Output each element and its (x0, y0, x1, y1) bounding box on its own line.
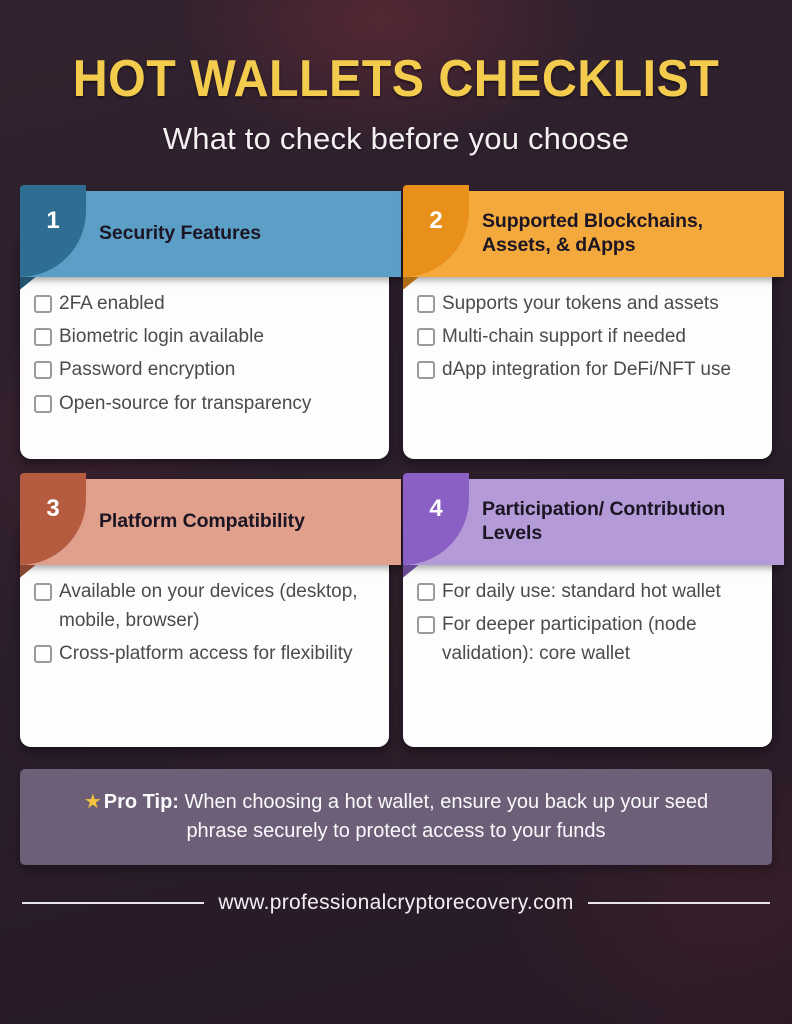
card-number-badge: 2 (403, 185, 469, 277)
star-icon: ★ (84, 791, 102, 813)
footer: www.professionalcryptorecovery.com (0, 891, 792, 915)
checklist-item-label: Cross-platform access for flexibility (59, 639, 353, 668)
card-number: 3 (46, 497, 59, 565)
checklist-item[interactable]: Cross-platform access for flexibility (34, 639, 375, 668)
checklist-item[interactable]: For deeper participation (node validatio… (417, 610, 758, 669)
checklist-item[interactable]: dApp integration for DeFi/NFT use (417, 355, 758, 384)
checkbox-icon[interactable] (417, 616, 435, 634)
checklist-card: 2Supported Blockchains, Assets, & dAppsS… (403, 191, 772, 459)
checkbox-icon[interactable] (417, 295, 435, 313)
page-title: HOT WALLETS CHECKLIST (28, 52, 765, 107)
checkbox-icon[interactable] (417, 328, 435, 346)
card-title: Participation/ Contribution Levels (482, 498, 768, 545)
checklist-item[interactable]: Supports your tokens and assets (417, 289, 758, 318)
checkbox-icon[interactable] (34, 645, 52, 663)
checklist-item[interactable]: Password encryption (34, 355, 375, 384)
checklist-item[interactable]: Open-source for transparency (34, 389, 375, 418)
checkbox-icon[interactable] (34, 295, 52, 313)
checkbox-icon[interactable] (34, 583, 52, 601)
card-number-badge: 3 (20, 473, 86, 565)
footer-rule-left (22, 902, 204, 904)
pro-tip-label: Pro Tip: (104, 791, 179, 813)
pro-tip-text: ★Pro Tip: When choosing a hot wallet, en… (54, 788, 738, 846)
checklist-item[interactable]: Biometric login available (34, 322, 375, 351)
checklist-item[interactable]: For daily use: standard hot wallet (417, 577, 758, 606)
checklist-item[interactable]: Multi-chain support if needed (417, 322, 758, 351)
pro-tip-body: When choosing a hot wallet, ensure you b… (179, 791, 708, 842)
footer-url: www.professionalcryptorecovery.com (218, 891, 573, 915)
checklist-item-label: Open-source for transparency (59, 389, 311, 418)
card-header: 3Platform Compatibility (25, 479, 401, 565)
checklist-item-label: Available on your devices (desktop, mobi… (59, 577, 375, 636)
checkbox-icon[interactable] (34, 328, 52, 346)
checkbox-icon[interactable] (417, 361, 435, 379)
checklist-item[interactable]: Available on your devices (desktop, mobi… (34, 577, 375, 636)
checkbox-icon[interactable] (34, 395, 52, 413)
checkbox-icon[interactable] (34, 361, 52, 379)
checklist-card: 4Participation/ Contribution LevelsFor d… (403, 479, 772, 747)
checklist-card-grid: 1Security Features2FA enabledBiometric l… (20, 191, 772, 747)
pro-tip-banner: ★Pro Tip: When choosing a hot wallet, en… (20, 769, 772, 865)
card-header: 2Supported Blockchains, Assets, & dApps (408, 191, 784, 277)
page-header: HOT WALLETS CHECKLIST What to check befo… (0, 0, 792, 157)
infographic-page: HOT WALLETS CHECKLIST What to check befo… (0, 0, 792, 1024)
checklist-item-label: For deeper participation (node validatio… (442, 610, 758, 669)
checklist-item-label: Password encryption (59, 355, 235, 384)
card-header: 1Security Features (25, 191, 401, 277)
card-title: Platform Compatibility (99, 510, 305, 533)
page-subtitle: What to check before you choose (0, 121, 792, 157)
card-number: 2 (429, 209, 442, 277)
card-number-badge: 4 (403, 473, 469, 565)
card-title: Security Features (99, 222, 261, 245)
footer-rule-right (588, 902, 770, 904)
card-number: 1 (46, 209, 59, 277)
checklist-card: 1Security Features2FA enabledBiometric l… (20, 191, 389, 459)
card-header: 4Participation/ Contribution Levels (408, 479, 784, 565)
card-title: Supported Blockchains, Assets, & dApps (482, 210, 768, 257)
checklist-item-label: Multi-chain support if needed (442, 322, 686, 351)
checklist-item[interactable]: 2FA enabled (34, 289, 375, 318)
checklist-card: 3Platform CompatibilityAvailable on your… (20, 479, 389, 747)
card-number-badge: 1 (20, 185, 86, 277)
checklist-item-label: Supports your tokens and assets (442, 289, 719, 318)
checklist-item-label: dApp integration for DeFi/NFT use (442, 355, 731, 384)
checklist-item-label: 2FA enabled (59, 289, 165, 318)
card-number: 4 (429, 497, 442, 565)
checklist-item-label: Biometric login available (59, 322, 264, 351)
checklist-item-label: For daily use: standard hot wallet (442, 577, 721, 606)
checkbox-icon[interactable] (417, 583, 435, 601)
